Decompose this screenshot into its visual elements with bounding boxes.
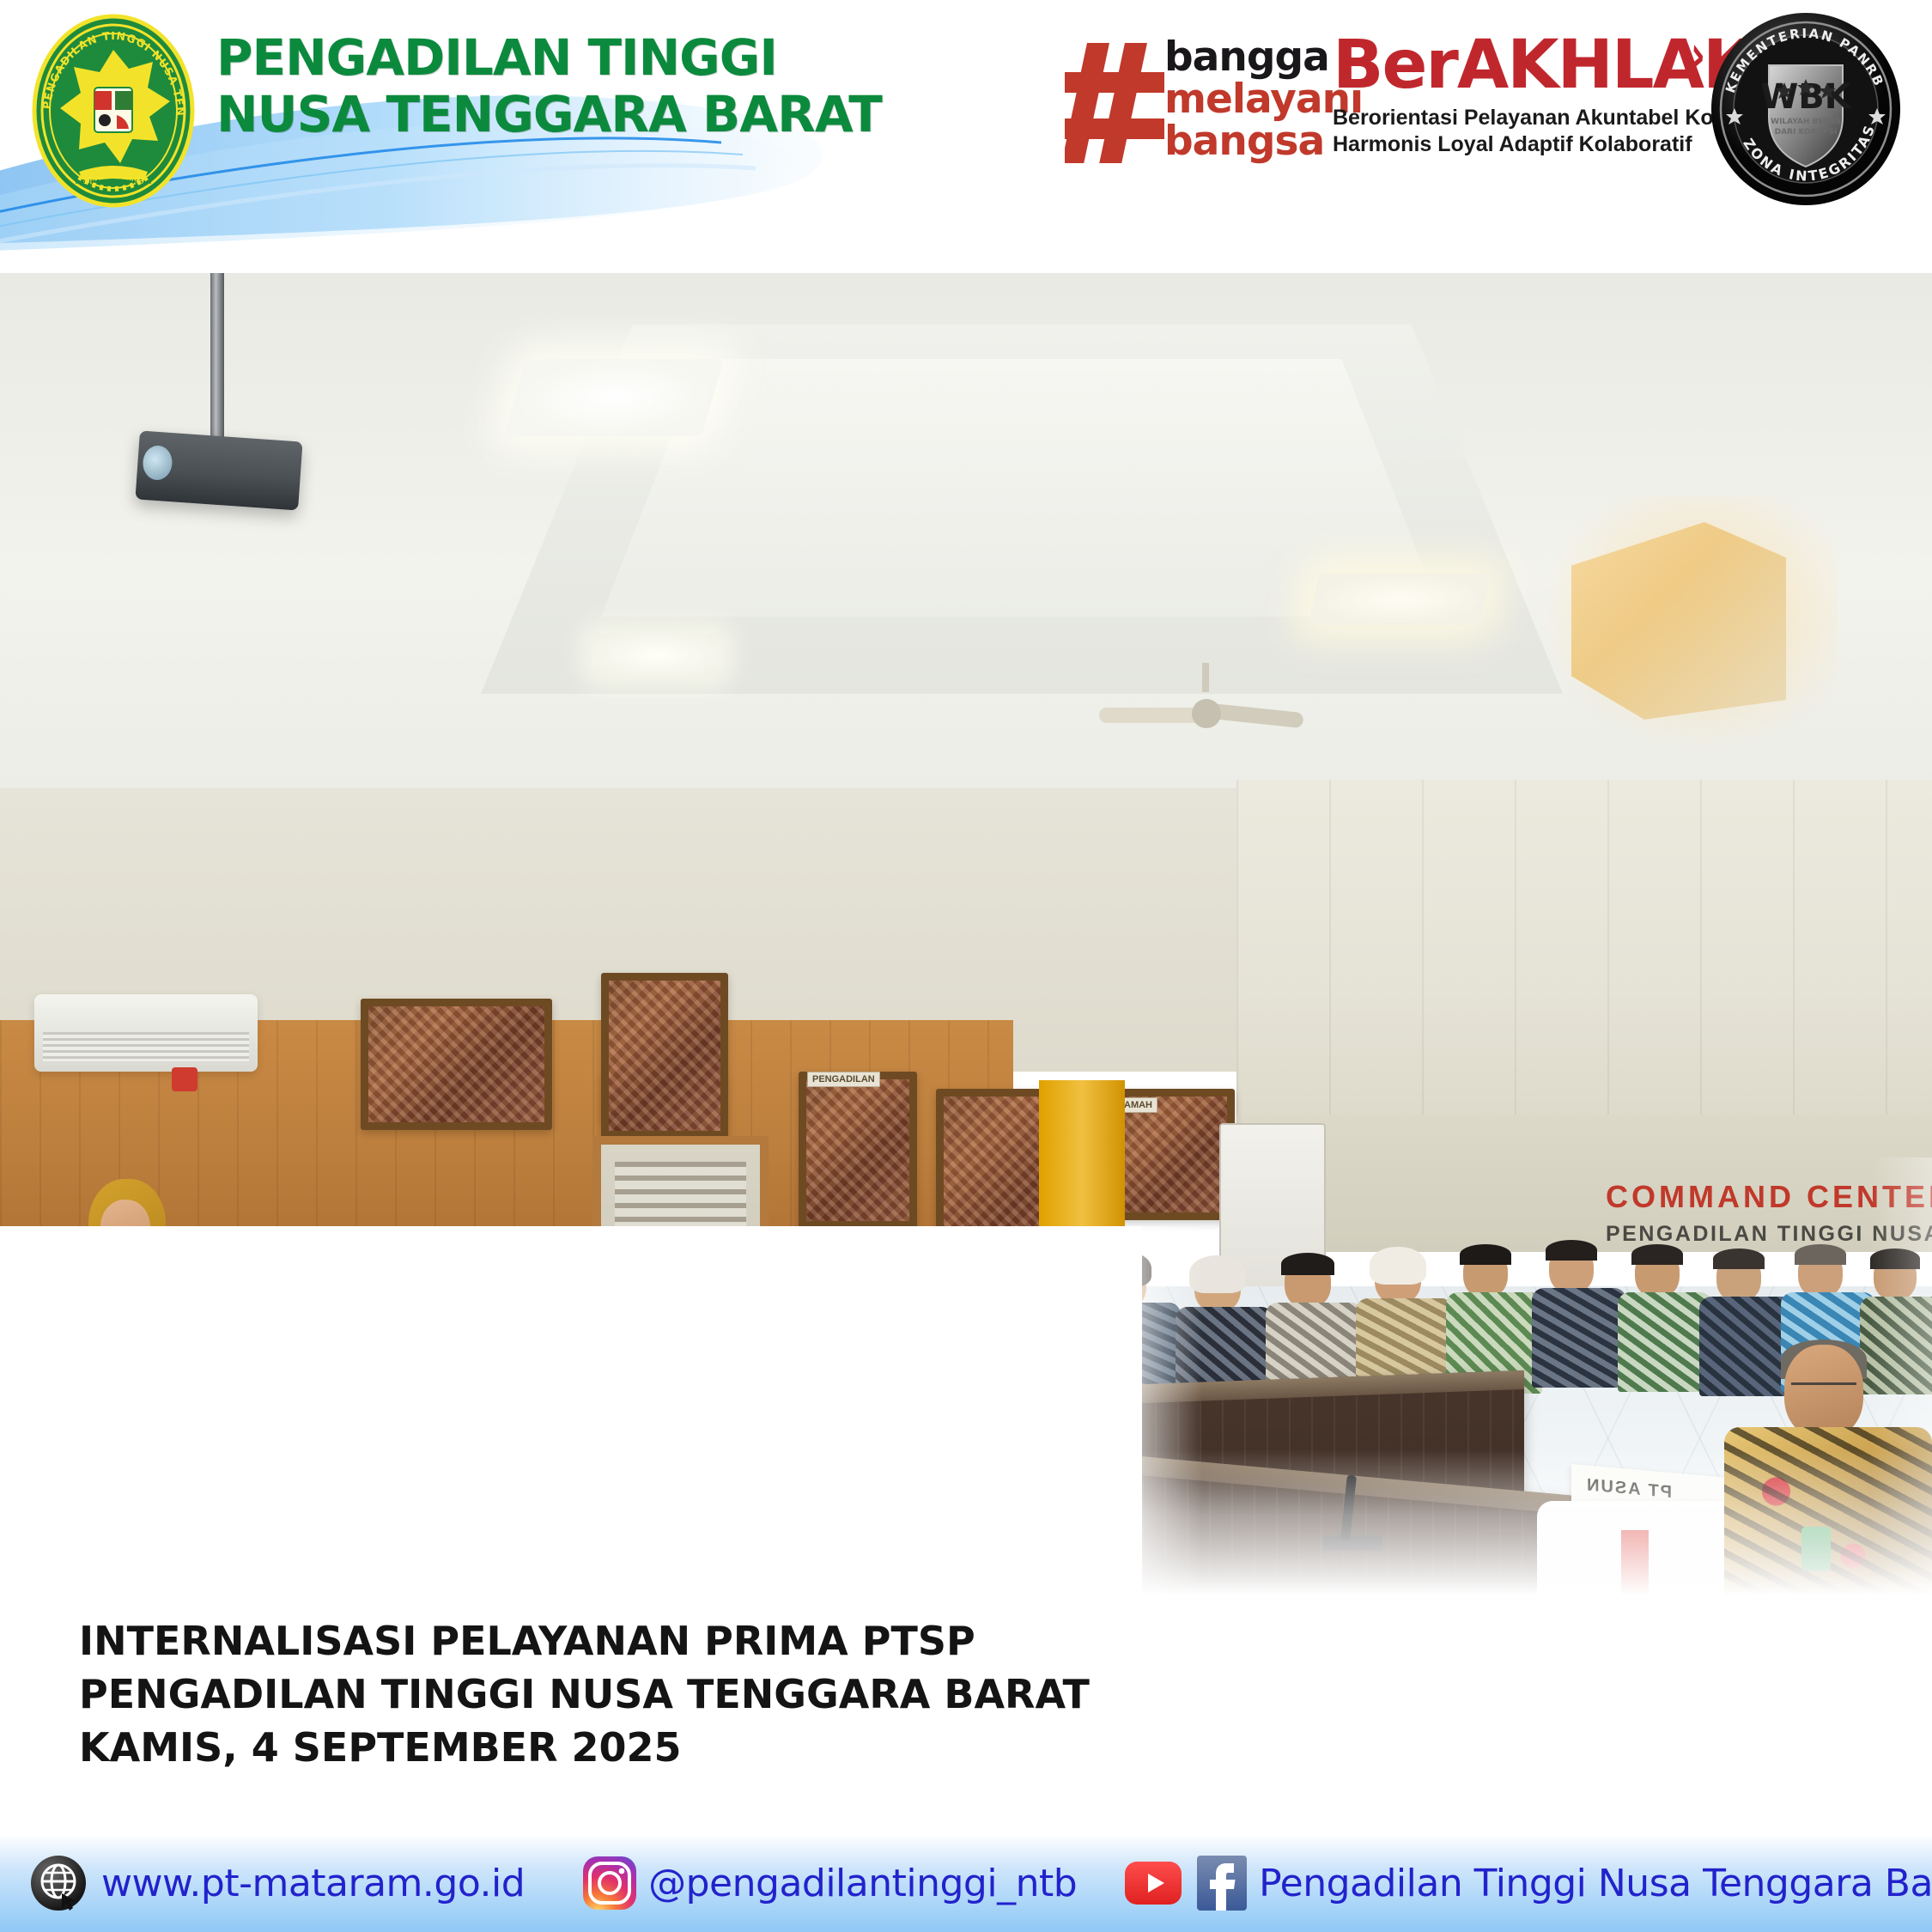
footer-contact-bar: www.pt-mataram.go.id @pengadilantinggi_n… [0, 1834, 1932, 1932]
person-hijab [1370, 1247, 1426, 1285]
caption-line-3: KAMIS, 4 SEPTEMBER 2025 [79, 1721, 1796, 1774]
facebook-text[interactable]: Pengadilan Tinggi Nusa Tenggara Barat [1259, 1862, 1932, 1905]
ceiling-projector-icon [135, 430, 302, 510]
songket-frame [601, 973, 728, 1139]
globe-icon [31, 1856, 86, 1911]
wbk-zona-integritas-badge: WBK WILAYAH BEBAS DARI KORUPSI KEMENTERI… [1709, 12, 1903, 206]
person-hair [1460, 1244, 1511, 1265]
photo-bottom-fade [0, 1449, 1932, 1595]
event-photo: PENGADILAN MAHKAMAH COMMAND CENTER PENGA… [0, 273, 1932, 1595]
ceiling-light-right-icon [1309, 574, 1492, 625]
instagram-icon [583, 1856, 636, 1910]
songket-frame [361, 999, 552, 1130]
right-wall [1236, 780, 1932, 1132]
person-hair [1631, 1244, 1683, 1265]
photo-scene: PENGADILAN MAHKAMAH COMMAND CENTER PENGA… [0, 273, 1932, 1595]
ceiling-fan-icon [1099, 685, 1305, 745]
caption-block: INTERNALISASI PELAYANAN PRIMA PTSP PENGA… [79, 1614, 1796, 1774]
court-title-line1: PENGADILAN TINGGI [216, 29, 766, 86]
website-contact[interactable]: www.pt-mataram.go.id [31, 1856, 525, 1911]
court-title-line2: NUSA TENGGARA BARAT [216, 86, 766, 143]
air-conditioner-icon [34, 994, 258, 1072]
berakhlak-values-line1: Berorientasi Pelayanan Akuntabel Kompete… [1333, 105, 1702, 131]
poster-root: MAHKAMAH AGUNG RI PENGADILAN TINGGI NUSA… [0, 0, 1932, 1932]
youtube-icon [1125, 1862, 1182, 1905]
youtube-icon-wrap[interactable] [1125, 1862, 1182, 1905]
bangga-melayani-bangsa-logo: bangga melayani bangsa [1065, 24, 1322, 179]
court-seal-logo: MAHKAMAH AGUNG RI PENGADILAN TINGGI NUSA… [27, 12, 199, 210]
berakhlak-values: Berorientasi Pelayanan Akuntabel Kompete… [1333, 105, 1702, 158]
berakhlak-values-line2: Harmonis Loyal Adaptif Kolaboratif [1333, 131, 1702, 158]
songket-frame [799, 1072, 917, 1229]
website-text[interactable]: www.pt-mataram.go.id [101, 1862, 525, 1905]
facebook-contact[interactable]: Pengadilan Tinggi Nusa Tenggara Barat [1197, 1856, 1932, 1911]
fire-alarm-icon [172, 1067, 197, 1091]
person-hair [1713, 1249, 1765, 1269]
fan-blade [1099, 708, 1202, 723]
ceiling-light-icon [504, 359, 724, 436]
frame-label: PENGADILAN [807, 1072, 880, 1087]
fan-hub [1192, 699, 1221, 728]
instagram-contact[interactable]: @pengadilantinggi_ntb [583, 1856, 1077, 1910]
berakhlak-logo: BerAKHLAK › Berorientasi Pelayanan Akunt… [1333, 31, 1702, 158]
wbk-center-sub1: WILAYAH BEBAS [1771, 118, 1841, 126]
caption-line-1: INTERNALISASI PELAYANAN PRIMA PTSP [79, 1614, 1796, 1668]
person-body [1532, 1288, 1626, 1388]
hashtag-icon [1065, 43, 1168, 163]
ceiling-light-small-icon [592, 634, 721, 677]
instagram-text[interactable]: @pengadilantinggi_ntb [648, 1862, 1077, 1905]
ceiling-panel-inner [601, 359, 1443, 617]
wbk-center-sub2: DARI KORUPSI [1775, 128, 1838, 137]
caption-line-2: PENGADILAN TINGGI NUSA TENGGARA BARAT [79, 1668, 1796, 1721]
header: MAHKAMAH AGUNG RI PENGADILAN TINGGI NUSA… [0, 0, 1932, 275]
person-hair [1546, 1240, 1597, 1261]
projector-mount-rod [210, 273, 224, 445]
facebook-icon [1197, 1856, 1247, 1911]
fan-stem [1202, 663, 1209, 692]
court-title: PENGADILAN TINGGI NUSA TENGGARA BARAT [216, 29, 766, 143]
person-hair [1281, 1253, 1334, 1275]
